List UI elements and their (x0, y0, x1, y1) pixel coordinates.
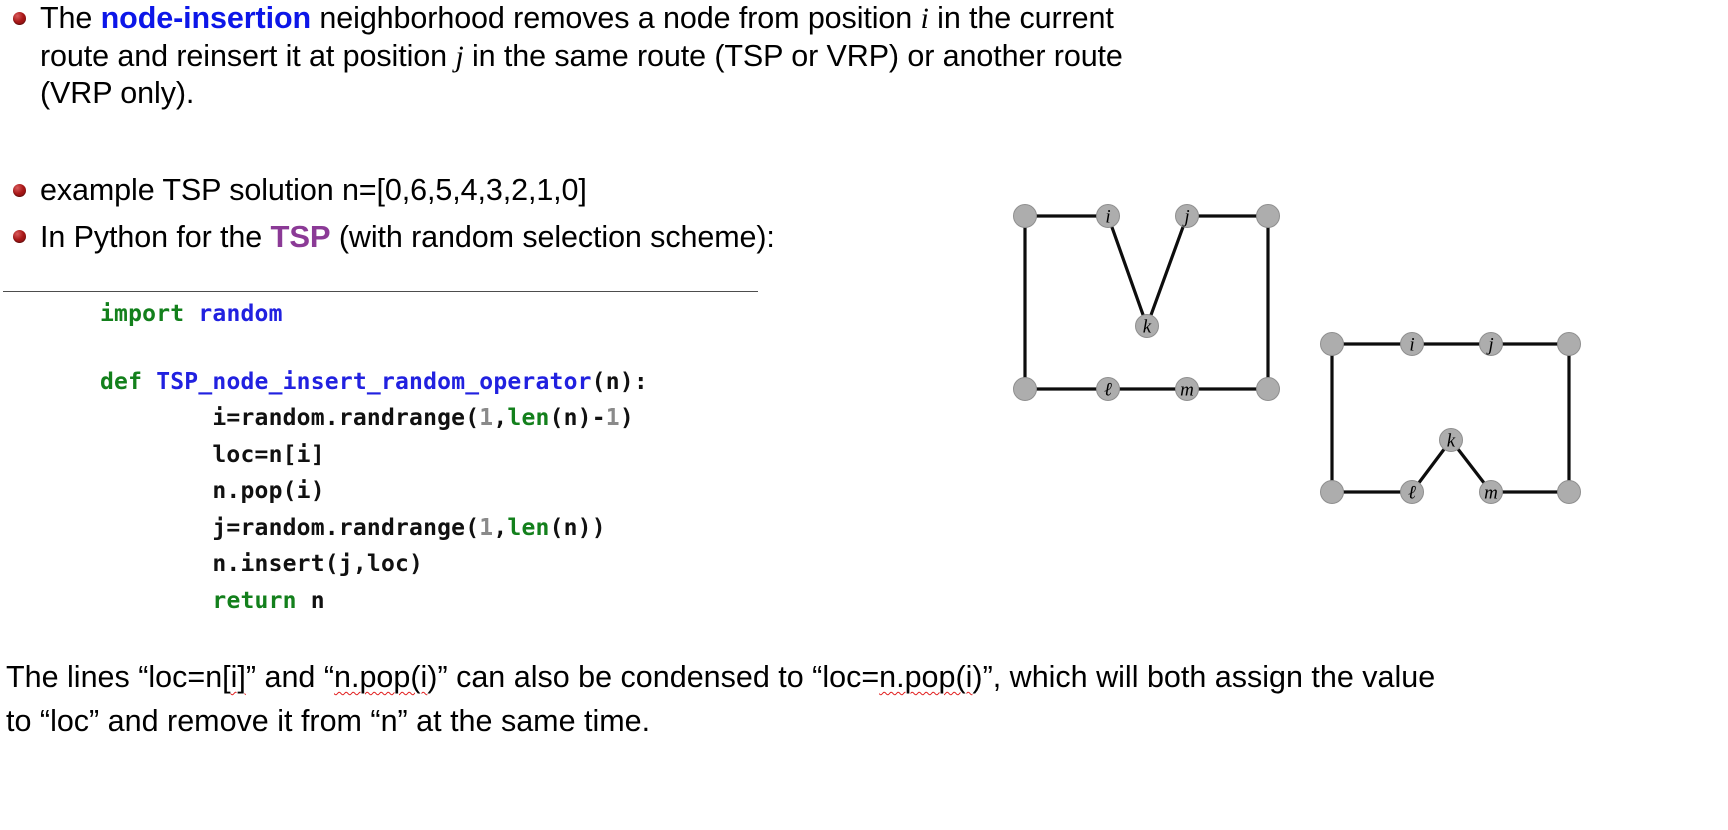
code-token (100, 588, 212, 614)
graph-tsp-route-before: ijkℓm (968, 172, 1290, 411)
graph-node-label: i (1105, 207, 1110, 228)
text-run: The lines “loc=n[ (6, 660, 231, 694)
graph-node-label: k (1447, 431, 1456, 452)
spellcheck-underline: n.pop(i (334, 660, 427, 694)
code-token: j=random.randrange( (100, 515, 479, 541)
bullet-text: The node-insertion neighborhood removes … (40, 0, 1170, 113)
code-token: ) (620, 405, 634, 431)
code-token: (n): (592, 369, 648, 395)
code-line: def TSP_node_insert_random_operator(n): (100, 364, 648, 401)
code-block-divider (3, 291, 758, 292)
graph-node-label: ℓ (1408, 483, 1416, 504)
graph-node (1257, 205, 1280, 228)
emphasis-tsp: TSP (270, 219, 330, 254)
graph-node-label: m (1180, 380, 1194, 401)
code-line: return n (100, 583, 648, 620)
bullet-python-intro: In Python for the TSP (with random selec… (0, 218, 940, 257)
bullet-text: example TSP solution n=[0,6,5,4,3,2,1,0] (40, 172, 940, 210)
bullet-example-solution: example TSP solution n=[0,6,5,4,3,2,1,0] (0, 172, 940, 210)
code-line: n.pop(i) (100, 473, 648, 510)
code-token: loc=n[i] (100, 442, 325, 468)
code-blank-line (100, 333, 648, 364)
text-run: )” can also be condensed to “loc= (427, 660, 879, 694)
python-code-block: import random def TSP_node_insert_random… (100, 296, 648, 619)
code-token: (n)) (550, 515, 606, 541)
closing-paragraph: The lines “loc=n[i]” and “n.pop(i)” can … (6, 655, 1466, 743)
code-token: random (198, 301, 282, 327)
code-token: n.pop(i) (100, 478, 325, 504)
graph-node-label: ℓ (1104, 380, 1112, 401)
code-token: , (493, 405, 507, 431)
text-run: The (40, 1, 101, 35)
graph-node-label: k (1143, 317, 1152, 338)
slide-canvas: The node-insertion neighborhood removes … (0, 0, 1728, 830)
code-token: i=random.randrange( (100, 405, 479, 431)
graph-tsp-route-after: ijkℓm (1292, 300, 1591, 514)
bullet-dot-icon (13, 12, 26, 25)
graph-node (1558, 481, 1581, 504)
code-token: 1 (479, 515, 493, 541)
code-token: TSP_node_insert_random_operator (156, 369, 591, 395)
emphasis-node-insertion: node-insertion (101, 1, 311, 35)
graph-node (1014, 378, 1037, 401)
graph-node (1257, 378, 1280, 401)
code-line: j=random.randrange(1,len(n)) (100, 510, 648, 547)
code-token: 1 (479, 405, 493, 431)
code-token: 1 (606, 405, 620, 431)
math-variable: j (455, 40, 463, 73)
text-run: ” and “ (246, 660, 334, 694)
code-line: i=random.randrange(1,len(n)-1) (100, 400, 648, 437)
spellcheck-underline: n.pop(i (879, 660, 972, 694)
text-run: (with random selection scheme): (330, 220, 774, 254)
bullet-dot-icon (13, 184, 26, 197)
code-token: def (100, 369, 156, 395)
code-line: loc=n[i] (100, 437, 648, 474)
graph-svg: ijkℓm (1292, 300, 1591, 514)
graph-node (1014, 205, 1037, 228)
code-token: , (493, 515, 507, 541)
code-token: len (507, 515, 549, 541)
code-token: len (507, 405, 549, 431)
graph-edge (1147, 216, 1187, 326)
graph-node (1558, 333, 1581, 356)
code-token: (n)- (550, 405, 606, 431)
bullet-dot-icon (13, 230, 26, 243)
math-variable: i (921, 2, 929, 35)
code-token: return (212, 588, 310, 614)
code-token: n.insert(j,loc) (100, 551, 423, 577)
bullet-node-insertion-description: The node-insertion neighborhood removes … (0, 0, 1170, 113)
code-line: import random (100, 296, 648, 333)
spellcheck-underline: i] (231, 660, 246, 694)
graph-svg: ijkℓm (968, 172, 1290, 411)
graph-node (1321, 481, 1344, 504)
graph-edge (1108, 216, 1147, 326)
graph-node-label: m (1484, 483, 1498, 504)
graph-node (1321, 333, 1344, 356)
code-token: n (311, 588, 325, 614)
text-run: neighborhood removes a node from positio… (311, 1, 920, 35)
graph-node-label: i (1409, 335, 1414, 356)
text-run: In Python for the (40, 220, 270, 254)
bullet-text: In Python for the TSP (with random selec… (40, 218, 940, 257)
code-token: import (100, 301, 198, 327)
code-line: n.insert(j,loc) (100, 546, 648, 583)
text-run: example TSP solution n=[0,6,5,4,3,2,1,0] (40, 173, 587, 207)
